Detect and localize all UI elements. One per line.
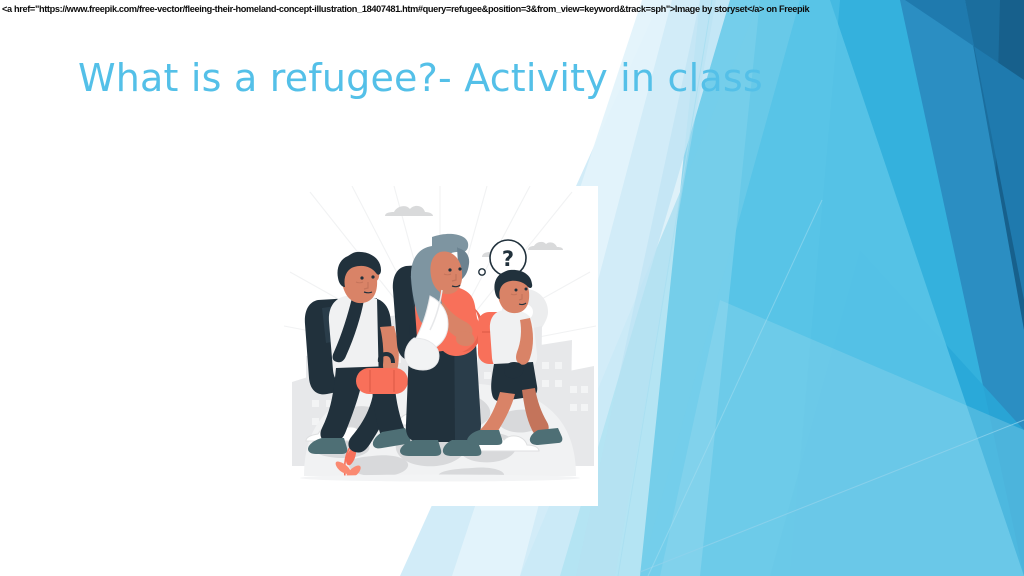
bg-shape-pale-cross [660, 300, 1024, 576]
bg-shape-blue-wedge-2 [905, 0, 1024, 300]
attribution-credit-text: <a href="https://www.freepik.com/free-ve… [2, 3, 1022, 15]
bg-shape-deep-right [905, 0, 1024, 576]
illustration-svg: ? [282, 186, 598, 506]
bg-shape-blue-wedge [790, 0, 1024, 576]
bg-shape-deep-right-2 [985, 0, 1024, 576]
bg-shape-azure-lower [770, 250, 1024, 576]
refugee-family-illustration: ? [282, 186, 598, 506]
slide-canvas: <a href="https://www.freepik.com/free-ve… [0, 0, 1024, 576]
bg-hairline-steep-2 [648, 200, 822, 576]
slide-title: What is a refugee?- Activity in class [78, 56, 763, 100]
bg-hairline-long [640, 420, 1024, 572]
thought-bubble-text: ? [502, 247, 514, 271]
